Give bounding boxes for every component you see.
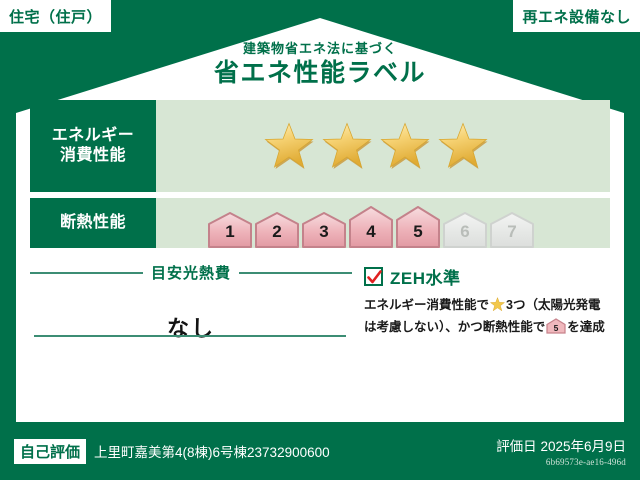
badge-building-type-text: 住宅（住戸）: [9, 6, 102, 27]
utility-cost-value: なし: [30, 311, 352, 343]
house-icon: [490, 212, 534, 248]
zeh-desc-part4: を達成: [567, 320, 605, 334]
utility-cost-divider: [34, 335, 346, 337]
check-icon: [367, 270, 382, 285]
star-icon: [264, 121, 314, 171]
evaluation-id: 6b69573e-ae16-496d: [496, 457, 626, 467]
house-icon: [396, 206, 440, 248]
heading-rule-left: [30, 272, 143, 274]
evaluation-date: 評価日 2025年6月9日: [496, 435, 626, 455]
zeh-desc-part2: 3つ（太陽光発電: [506, 298, 600, 312]
row-insulation-performance: 断熱性能 1234567: [30, 198, 610, 248]
star-icon-inline: [490, 297, 505, 318]
star-icon: [438, 121, 488, 171]
insulation-performance-value: 1234567: [156, 198, 610, 248]
heading-rule-right: [239, 272, 352, 274]
insulation-grade-scale: 1234567: [156, 198, 534, 248]
house-badge-icon-inline: 5: [546, 318, 566, 340]
insulation-grade-4: 4: [349, 206, 393, 248]
badge-renewable-energy-text: 再エネ設備なし: [522, 6, 631, 27]
utility-cost-block: 目安光熱費 なし: [30, 262, 352, 343]
zeh-header: ZEH水準: [364, 264, 610, 289]
star-rating: [156, 121, 488, 171]
zeh-title: ZEH水準: [390, 264, 461, 289]
zeh-checkbox: [364, 267, 383, 286]
zeh-block: ZEH水準 エネルギー消費性能で 3つ（太陽光発電 は考慮しない）、かつ断熱性能…: [352, 262, 610, 343]
house-icon: [255, 212, 299, 248]
badge-renewable-energy: 再エネ設備なし: [513, 0, 640, 32]
insulation-grade-1: 1: [208, 212, 252, 248]
footer-left: 自己評価 上里町嘉美第4(8棟)6号棟23732900600: [0, 439, 496, 464]
house-icon: [208, 212, 252, 248]
zeh-desc-part3: は考慮しない）、かつ断熱性能で: [364, 320, 545, 334]
zeh-desc-part1: エネルギー消費性能で: [364, 298, 489, 312]
energy-label-line1: エネルギー: [52, 126, 135, 146]
building-name: 上里町嘉美第4(8棟)6号棟23732900600: [94, 441, 330, 461]
label-content: エネルギー 消費性能 断熱性能 1234567 目安光熱費: [30, 100, 610, 408]
self-evaluation-badge: 自己評価: [14, 439, 86, 464]
utility-cost-heading-text: 目安光熱費: [151, 262, 231, 283]
insulation-grade-6: 6: [443, 212, 487, 248]
insulation-grade-7: 7: [490, 212, 534, 248]
insulation-performance-label-box: 断熱性能: [30, 198, 156, 248]
insulation-label: 断熱性能: [60, 213, 126, 233]
insulation-grade-3: 3: [302, 212, 346, 248]
house-icon: [443, 212, 487, 248]
star-icon: [380, 121, 430, 171]
badge-building-type: 住宅（住戸）: [0, 0, 111, 32]
insulation-grade-5: 5: [396, 206, 440, 248]
utility-cost-heading: 目安光熱費: [30, 262, 352, 283]
lower-section: 目安光熱費 なし ZEH水準 エネルギー消費性能で: [30, 262, 610, 343]
energy-label-line2: 消費性能: [60, 146, 126, 166]
house-icon: [349, 206, 393, 248]
star-icon: [322, 121, 372, 171]
energy-performance-label: 住宅（住戸） 再エネ設備なし 建築物省エネ法に基づく 省エネ性能ラベル エネルギ…: [0, 0, 640, 480]
insulation-grade-2: 2: [255, 212, 299, 248]
zeh-description: エネルギー消費性能で 3つ（太陽光発電 は考慮しない）、かつ断熱性能で 5 を達…: [364, 296, 610, 341]
house-icon: [302, 212, 346, 248]
svg-text:5: 5: [554, 323, 559, 333]
energy-performance-label-box: エネルギー 消費性能: [30, 100, 156, 192]
energy-performance-value: [156, 100, 610, 192]
footer-right: 評価日 2025年6月9日 6b69573e-ae16-496d: [496, 435, 640, 467]
label-footer: 自己評価 上里町嘉美第4(8棟)6号棟23732900600 評価日 2025年…: [0, 422, 640, 480]
row-energy-performance: エネルギー 消費性能: [30, 100, 610, 192]
